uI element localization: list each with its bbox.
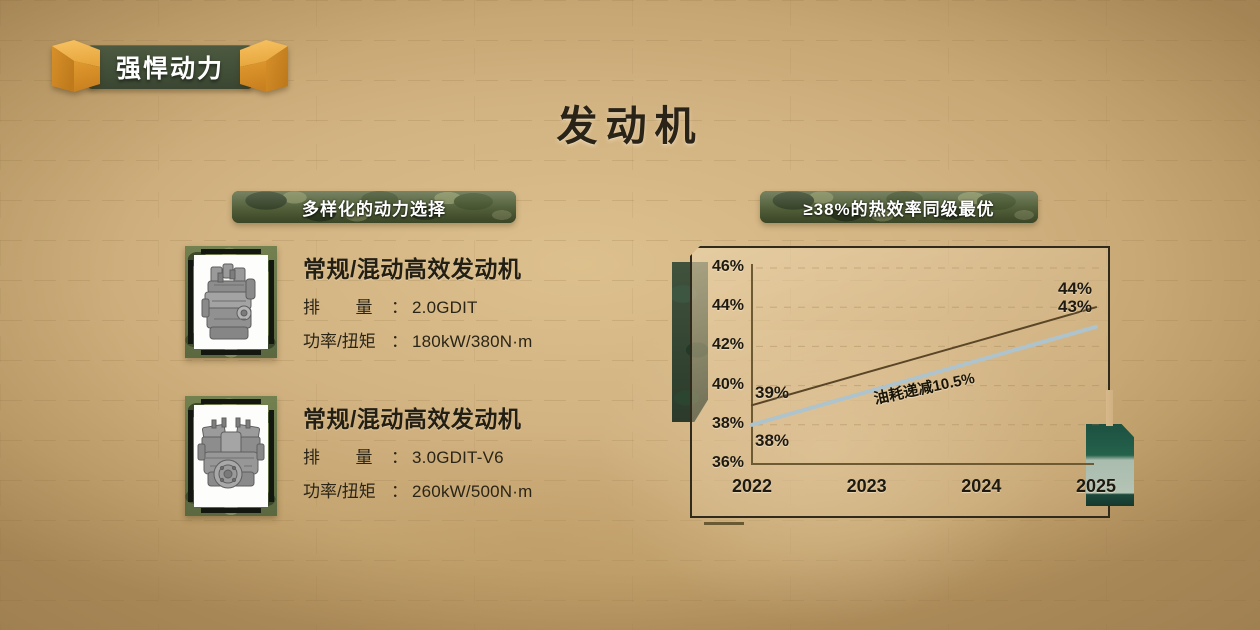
chart-start-label-upper: 39% xyxy=(755,383,789,403)
spec-key: 功率/扭矩 xyxy=(303,327,391,352)
chart-y-tick-label: 44% xyxy=(692,297,744,315)
chart-y-tick-label: 46% xyxy=(692,258,744,276)
card-bracket-left xyxy=(188,410,193,502)
engine-spec-power-torque: 功率/扭矩 ： 260kW/500N·m xyxy=(303,477,533,502)
engine-title: 常规/混动高效发动机 xyxy=(303,250,533,284)
right-section-banner: ≥38%的热效率同级最优 xyxy=(760,191,1038,223)
engine-list-item: 常规/混动高效发动机 排 量 ： 3.0GDIT-V6 功率/扭矩 ： 260k… xyxy=(0,396,620,526)
card-bracket-bottom xyxy=(201,350,261,355)
spec-key: 排 量 xyxy=(303,293,391,318)
engine-info: 常规/混动高效发动机 排 量 ： 2.0GDIT 功率/扭矩 ： 180kW/3… xyxy=(303,250,533,352)
spec-colon: ： xyxy=(391,327,408,352)
chart-y-tick-label: 38% xyxy=(692,415,744,433)
card-bracket-bottom xyxy=(201,508,261,513)
spec-key: 排 量 xyxy=(303,443,391,468)
spec-colon: ： xyxy=(391,443,408,468)
engine-spec-displacement: 排 量 ： 2.0GDIT xyxy=(303,293,533,318)
spec-value: 2.0GDIT xyxy=(412,298,478,318)
page-title: 发动机 xyxy=(0,92,1260,152)
engine-list-item: 常规/混动高效发动机 排 量 ： 2.0GDIT 功率/扭矩 ： 180kW/3… xyxy=(0,246,620,376)
chart-y-tick-label: 40% xyxy=(692,376,744,394)
engine-photo-card xyxy=(185,396,277,516)
spec-value: 180kW/380N·m xyxy=(412,332,533,352)
spec-value: 3.0GDIT-V6 xyxy=(412,448,504,468)
spec-colon: ： xyxy=(391,477,408,502)
chart-x-tick-label: 2025 xyxy=(1070,476,1122,497)
card-bracket-left xyxy=(188,260,193,344)
engine-info: 常规/混动高效发动机 排 量 ： 3.0GDIT-V6 功率/扭矩 ： 260k… xyxy=(303,400,533,502)
engine-spec-power-torque: 功率/扭矩 ： 180kW/380N·m xyxy=(303,327,533,352)
chart-panel-foot-mark xyxy=(704,522,744,525)
chart-x-tick-label: 2023 xyxy=(841,476,893,497)
left-banner-label: 多样化的动力选择 xyxy=(232,191,516,223)
spec-colon: ： xyxy=(391,293,408,318)
chart-start-label-lower: 38% xyxy=(755,431,789,451)
engine-title: 常规/混动高效发动机 xyxy=(303,400,533,434)
card-bracket-right xyxy=(269,410,274,502)
chart-y-tick-label: 42% xyxy=(692,336,744,354)
card-bracket-right xyxy=(269,260,274,344)
engine-spec-displacement: 排 量 ： 3.0GDIT-V6 xyxy=(303,443,533,468)
chart-y-tick-label: 36% xyxy=(692,454,744,472)
thermal-efficiency-line-chart: 油耗递减10.5% 36%38%40%42%44%46%202220232024… xyxy=(690,246,1110,518)
section-badge: 强悍动力 xyxy=(52,40,288,94)
chart-x-tick-label: 2024 xyxy=(955,476,1007,497)
chart-x-tick-label: 2022 xyxy=(726,476,778,497)
right-banner-label: ≥38%的热效率同级最优 xyxy=(760,191,1038,223)
spec-key: 功率/扭矩 xyxy=(303,477,391,502)
left-section-banner: 多样化的动力选择 xyxy=(232,191,516,223)
v6-engine-icon xyxy=(194,405,268,507)
badge-label: 强悍动力 xyxy=(88,45,252,89)
spec-value: 260kW/500N·m xyxy=(412,482,533,502)
card-bracket-top xyxy=(201,249,261,254)
engine-photo-card xyxy=(185,246,277,358)
inline-four-engine-icon xyxy=(194,255,268,349)
chart-end-label-lower: 43% xyxy=(1058,297,1092,317)
card-bracket-top xyxy=(201,399,261,404)
